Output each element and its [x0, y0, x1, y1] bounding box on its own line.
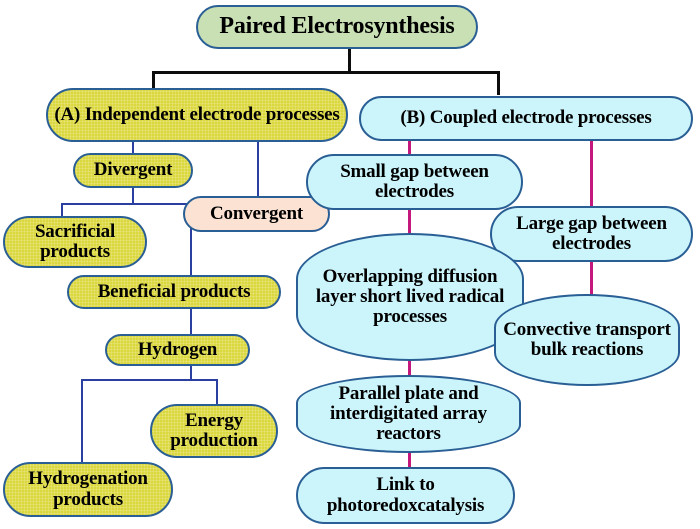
connector-hydrogen-to-hydrogen8: [81, 379, 83, 463]
node-label: Convergent: [185, 204, 328, 224]
node-label: Beneficial products: [69, 282, 279, 302]
connector-large-gap-to-convective: [590, 260, 593, 296]
node-label: Hydrogen: [107, 340, 248, 360]
node-label: Hydrogenation products: [5, 469, 171, 509]
node-small-gap-between-electrodes[interactable]: Small gap between electrodes: [306, 154, 523, 210]
connector-parallel-to-link: [408, 452, 411, 468]
node-sacrificial-products[interactable]: Sacrificial products: [3, 216, 147, 268]
node-label: Link to photoredoxcatalysis: [298, 475, 513, 515]
node-coupled-electrode-processes[interactable]: (B) Coupled electrode processes: [359, 96, 693, 141]
node-label: (B) Coupled electrode processes: [361, 108, 691, 128]
node-convective-transport-bulk-reactions[interactable]: Convective transport bulk reactions: [494, 294, 680, 386]
connector-hydrogen-crossbar: [81, 379, 218, 381]
connector-b-to-large-gap: [590, 139, 593, 208]
connector-hydrogen-stem: [190, 365, 192, 380]
node-hydrogenation-products[interactable]: Hydrogenation products: [3, 462, 173, 517]
connector-a-to-convergent: [257, 139, 259, 197]
node-label: Energy production: [152, 411, 276, 451]
node-label: Paired Electrosynthesis: [198, 14, 476, 39]
node-label: Divergent: [75, 160, 191, 180]
connector-hydrogen-to-energy: [216, 379, 218, 405]
connector-root-crossbar: [152, 71, 500, 74]
node-label: Small gap between electrodes: [308, 162, 521, 202]
connector-root-stem: [348, 47, 351, 73]
node-large-gap-between-electrodes[interactable]: Large gap between electrodes: [490, 206, 693, 262]
connector-divergent-to-sacrif: [61, 203, 63, 217]
node-label: Sacrificial products: [5, 222, 145, 262]
node-label: Overlapping diffusion layer short lived …: [298, 267, 522, 327]
connector-overlap-to-parallel: [408, 360, 411, 376]
node-beneficial-products[interactable]: Beneficial products: [67, 275, 281, 309]
node-label: Parallel plate and interdigitated array …: [298, 384, 519, 444]
node-energy-production[interactable]: Energy production: [150, 404, 278, 458]
node-parallel-plate-interdigitated-array-reactors[interactable]: Parallel plate and interdigitated array …: [296, 375, 521, 453]
connector-root-to-b: [497, 71, 500, 95]
node-label: (A) Independent electrode processes: [48, 105, 346, 125]
node-divergent[interactable]: Divergent: [73, 153, 193, 188]
node-overlapping-diffusion-layer[interactable]: Overlapping diffusion layer short lived …: [296, 233, 524, 361]
node-link-to-photoredoxcatalysis[interactable]: Link to photoredoxcatalysis: [296, 467, 515, 524]
node-label: Large gap between electrodes: [492, 214, 691, 254]
connector-divergent-stem: [132, 188, 134, 204]
node-label: Convective transport bulk reactions: [496, 320, 678, 360]
node-independent-electrode-processes[interactable]: (A) Independent electrode processes: [46, 88, 348, 142]
connector-benef-to-hydrogen: [190, 308, 192, 335]
flowchart-canvas: Paired Electrosynthesis (A) Independent …: [0, 0, 700, 529]
node-hydrogen[interactable]: Hydrogen: [105, 334, 250, 366]
node-paired-electrosynthesis[interactable]: Paired Electrosynthesis: [196, 5, 478, 49]
connector-divergent-crossbar: [61, 203, 192, 205]
